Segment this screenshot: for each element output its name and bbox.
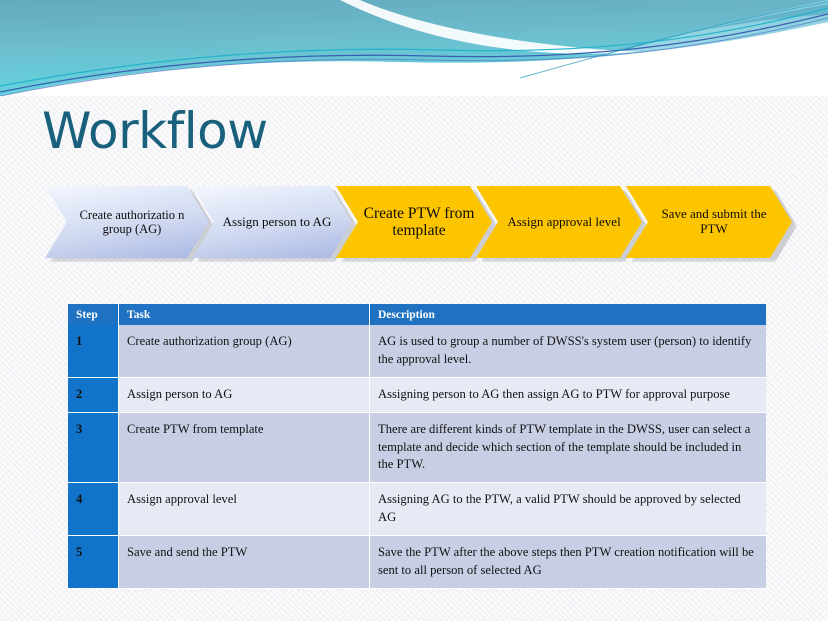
table-row: 2 Assign person to AG Assigning person t… <box>68 378 766 413</box>
cell-task: Assign person to AG <box>119 378 370 413</box>
slide-canvas: Workflow Create authorizatio n group (AG… <box>0 0 828 621</box>
decorative-wave-banner <box>0 0 828 96</box>
column-header-step: Step <box>68 304 119 325</box>
cell-task: Assign approval level <box>119 483 370 536</box>
cell-step: 5 <box>68 536 119 589</box>
page-title: Workflow <box>42 104 268 159</box>
cell-task: Create authorization group (AG) <box>119 325 370 378</box>
chevron-step-3[interactable]: Create PTW from template <box>336 186 492 258</box>
column-header-description: Description <box>370 304 766 325</box>
workflow-chevron-process: Create authorizatio n group (AG) Assign … <box>0 186 828 266</box>
table-header-row: Step Task Description <box>68 304 766 325</box>
chevron-step-4-label: Assign approval level <box>502 215 626 230</box>
chevron-step-2[interactable]: Assign person to AG <box>192 186 352 258</box>
chevron-step-5-label: Save and submit the PTW <box>652 207 776 236</box>
table-row: 4 Assign approval level Assigning AG to … <box>68 483 766 536</box>
cell-step: 2 <box>68 378 119 413</box>
cell-description: There are different kinds of PTW templat… <box>370 413 766 484</box>
cell-task: Save and send the PTW <box>119 536 370 589</box>
cell-step: 4 <box>68 483 119 536</box>
column-header-task: Task <box>119 304 370 325</box>
chevron-step-3-label: Create PTW from template <box>362 205 476 240</box>
table-row: 5 Save and send the PTW Save the PTW aft… <box>68 536 766 589</box>
cell-description: AG is used to group a number of DWSS's s… <box>370 325 766 378</box>
chevron-step-5[interactable]: Save and submit the PTW <box>626 186 792 258</box>
table-row: 1 Create authorization group (AG) AG is … <box>68 325 766 378</box>
workflow-steps-table: Step Task Description 1 Create authoriza… <box>68 304 766 589</box>
chevron-step-1[interactable]: Create authorizatio n group (AG) <box>45 186 209 258</box>
chevron-step-1-label: Create authorizatio n group (AG) <box>71 208 193 236</box>
chevron-step-2-label: Assign person to AG <box>218 215 336 230</box>
table-row: 3 Create PTW from template There are dif… <box>68 413 766 484</box>
chevron-step-4[interactable]: Assign approval level <box>476 186 642 258</box>
cell-description: Save the PTW after the above steps then … <box>370 536 766 589</box>
cell-step: 1 <box>68 325 119 378</box>
cell-description: Assigning person to AG then assign AG to… <box>370 378 766 413</box>
cell-step: 3 <box>68 413 119 484</box>
cell-task: Create PTW from template <box>119 413 370 484</box>
cell-description: Assigning AG to the PTW, a valid PTW sho… <box>370 483 766 536</box>
